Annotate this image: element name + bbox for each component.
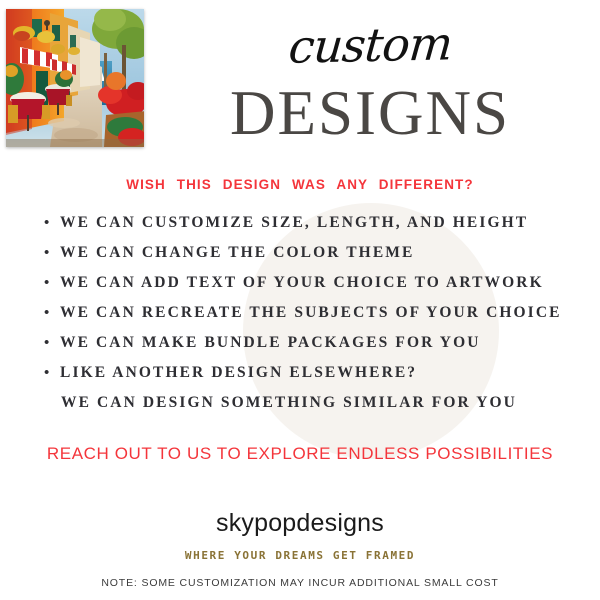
bullet-icon: • (44, 216, 60, 231)
script-heading: custom (287, 20, 454, 70)
artwork-thumbnail[interactable] (6, 9, 144, 147)
mediterranean-cafe-street-painting-icon (6, 9, 144, 147)
list-item-label: WE CAN CUSTOMIZE SIZE, LENGTH, AND HEIGH… (60, 214, 528, 232)
list-item-continuation: WE CAN DESIGN SOMETHING SIMILAR FOR YOU (44, 394, 592, 424)
call-to-action: REACH OUT TO US TO EXPLORE ENDLESS POSSI… (0, 444, 600, 464)
list-item: • WE CAN CHANGE THE COLOR THEME (44, 244, 592, 274)
list-item-label: WE CAN MAKE BUNDLE PACKAGES FOR YOU (60, 334, 481, 352)
bullet-icon: • (44, 246, 60, 261)
benefits-list: • WE CAN CUSTOMIZE SIZE, LENGTH, AND HEI… (44, 214, 592, 424)
list-item-label: LIKE ANOTHER DESIGN ELSEWHERE? (60, 364, 417, 382)
page-title: DESIGNS (150, 82, 590, 145)
list-item: • LIKE ANOTHER DESIGN ELSEWHERE? (44, 364, 592, 394)
list-item-label: WE CAN DESIGN SOMETHING SIMILAR FOR YOU (61, 394, 517, 412)
heading-block: custom DESIGNS (150, 22, 590, 145)
list-item-label: WE CAN RECREATE THE SUBJECTS OF YOUR CHO… (60, 304, 562, 322)
list-item: • WE CAN MAKE BUNDLE PACKAGES FOR YOU (44, 334, 592, 364)
brand-name: skypopdesigns (0, 509, 600, 538)
list-item: • WE CAN ADD TEXT OF YOUR CHOICE TO ARTW… (44, 274, 592, 304)
disclaimer-note: NOTE: SOME CUSTOMIZATION MAY INCUR ADDIT… (0, 577, 600, 589)
bullet-icon: • (44, 276, 60, 291)
listing-graphic: custom DESIGNS WISH THIS DESIGN WAS ANY … (0, 0, 600, 600)
tagline: WISH THIS DESIGN WAS ANY DIFFERENT? (0, 177, 600, 192)
bullet-icon: • (44, 336, 60, 351)
list-item: • WE CAN RECREATE THE SUBJECTS OF YOUR C… (44, 304, 592, 334)
list-item-label: WE CAN ADD TEXT OF YOUR CHOICE TO ARTWOR… (60, 274, 544, 292)
bullet-icon: • (44, 306, 60, 321)
bullet-icon: • (44, 366, 60, 381)
brand-tagline: WHERE YOUR DREAMS GET FRAMED (0, 549, 600, 562)
list-item-label: WE CAN CHANGE THE COLOR THEME (60, 244, 414, 262)
list-item: • WE CAN CUSTOMIZE SIZE, LENGTH, AND HEI… (44, 214, 592, 244)
